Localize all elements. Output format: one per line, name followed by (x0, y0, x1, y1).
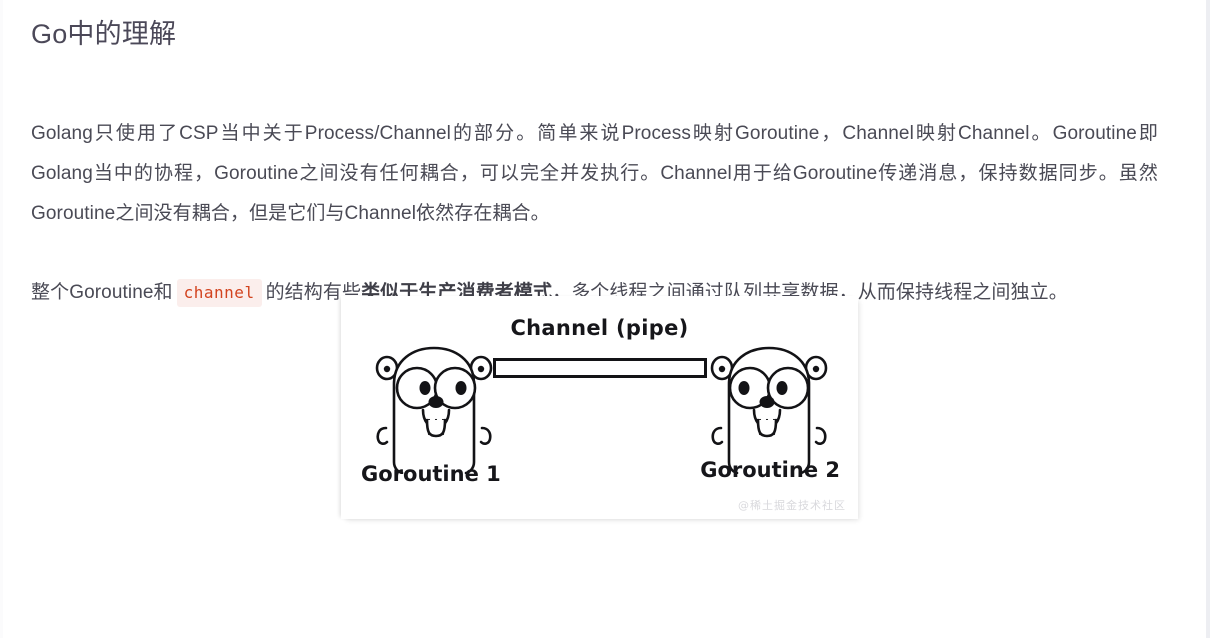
paragraph-lead-text: 整个Goroutine和 (31, 282, 173, 303)
channel-pipe-shape (493, 358, 707, 378)
figure-channel-diagram[interactable]: Channel (pipe) (341, 296, 858, 519)
figure-goroutine-2-label: Goroutine 2 (700, 458, 840, 482)
article-page: Go中的理解 Golang只使用了CSP当中关于Process/Channel的… (0, 0, 1206, 638)
article-content: Go中的理解 Golang只使用了CSP当中关于Process/Channel的… (31, 0, 1161, 313)
gopher-left-icon (373, 344, 495, 474)
inline-code-channel: channel (177, 279, 262, 307)
figure-channel-label: Channel (pipe) (341, 316, 858, 340)
figure-canvas: Channel (pipe) (341, 296, 858, 519)
right-edge-divider (1206, 0, 1214, 638)
figure-goroutine-1-label: Goroutine 1 (361, 462, 501, 486)
gopher-right-icon (708, 344, 830, 474)
figure-watermark: @稀土掘金技术社区 (738, 497, 846, 513)
page-title: Go中的理解 (31, 0, 1161, 54)
paragraph-csp-explanation: Golang只使用了CSP当中关于Process/Channel的部分。简单来说… (31, 114, 1158, 234)
